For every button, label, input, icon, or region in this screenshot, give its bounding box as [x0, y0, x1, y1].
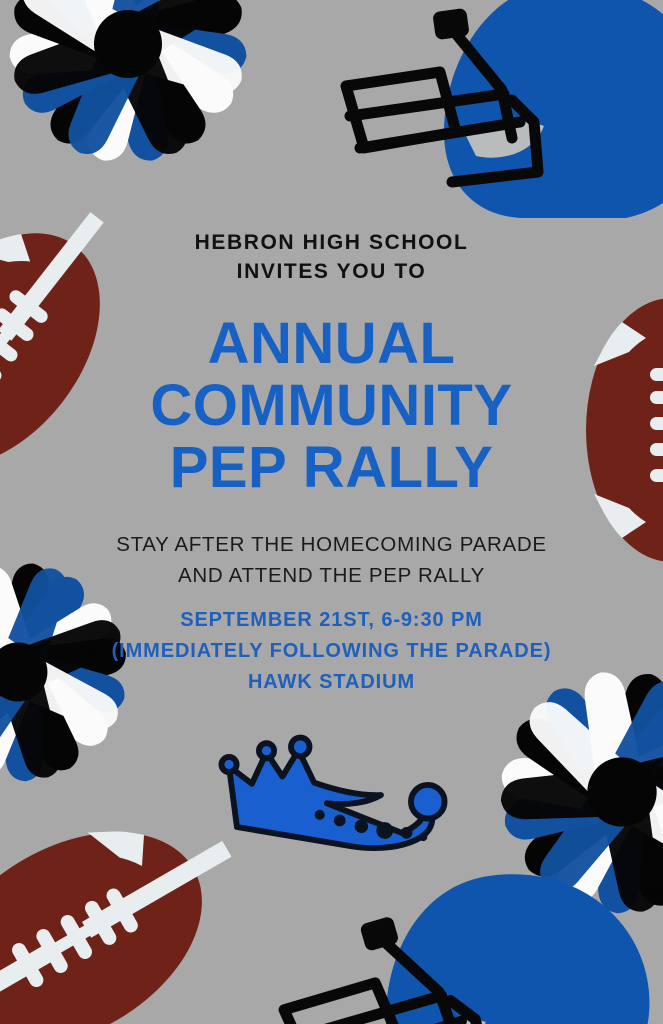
- event-note: (IMMEDIATELY FOLLOWING THE PARADE): [0, 636, 663, 667]
- headline-block: ANNUAL COMMUNITY PEP RALLY: [0, 313, 663, 499]
- body-text-block: STAY AFTER THE HOMECOMING PARADE AND ATT…: [0, 529, 663, 591]
- invitation-block: HEBRON HIGH SCHOOL INVITES YOU TO: [0, 228, 663, 286]
- pep-rally-poster: HEBRON HIGH SCHOOL INVITES YOU TO ANNUAL…: [0, 0, 663, 1024]
- poster-text-layer: HEBRON HIGH SCHOOL INVITES YOU TO ANNUAL…: [0, 0, 663, 1024]
- headline-line-2: COMMUNITY: [0, 375, 663, 437]
- event-venue: HAWK STADIUM: [0, 667, 663, 698]
- body-line-1: STAY AFTER THE HOMECOMING PARADE: [0, 529, 663, 560]
- invitation-line-1: HEBRON HIGH SCHOOL: [0, 228, 663, 257]
- invitation-line-2: INVITES YOU TO: [0, 257, 663, 286]
- event-details-block: SEPTEMBER 21ST, 6-9:30 PM (IMMEDIATELY F…: [0, 605, 663, 698]
- body-line-2: AND ATTEND THE PEP RALLY: [0, 560, 663, 591]
- headline-line-3: PEP RALLY: [0, 437, 663, 499]
- event-datetime: SEPTEMBER 21ST, 6-9:30 PM: [0, 605, 663, 636]
- headline-line-1: ANNUAL: [0, 313, 663, 375]
